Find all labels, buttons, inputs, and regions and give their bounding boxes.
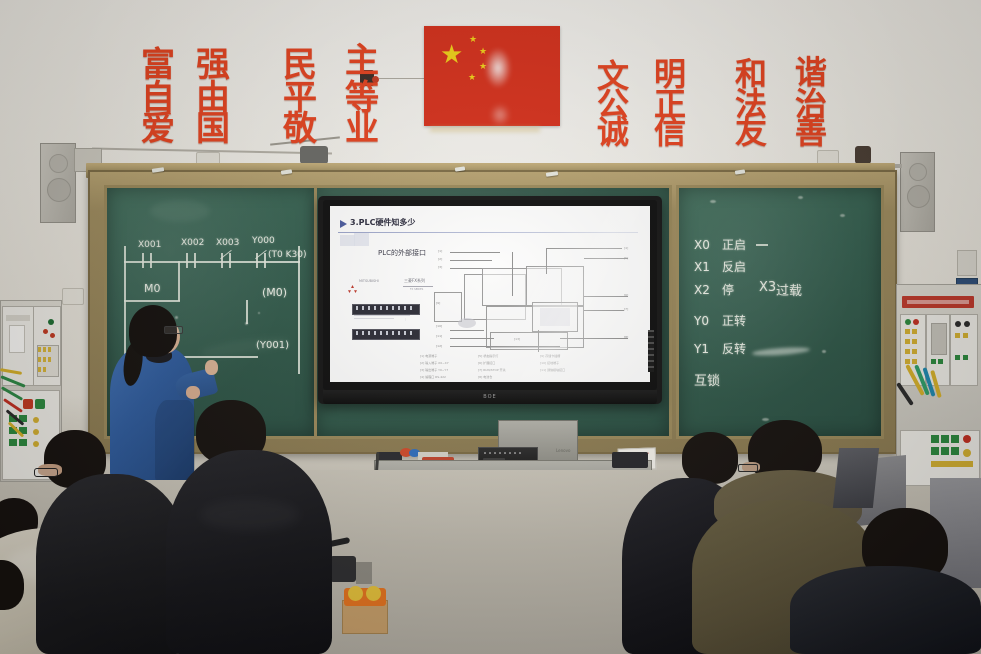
rack-banner: [902, 296, 974, 308]
contact-symbol: [142, 253, 144, 268]
meter-display: [931, 323, 947, 355]
wall-socket: [62, 288, 84, 305]
classroom-scene: 富 强 民 主 自 由 平 等 爱 国 敬 业 文 明 和 谐 公 正 法 治 …: [0, 0, 981, 654]
blackboard-right-panel[interactable]: [676, 185, 884, 439]
wall-char: 敬: [283, 112, 317, 146]
wall-char: 友: [735, 116, 767, 148]
wall-char: 富: [141, 48, 175, 82]
tool-disc: [348, 586, 363, 601]
speaker-driver: [47, 178, 71, 202]
teacher-hand-lower: [186, 386, 200, 399]
teacher-shadow: [155, 400, 195, 480]
board-smudge: [150, 200, 210, 222]
ladder-coil-label: (M0): [262, 286, 287, 299]
ladder-contact-label: X002: [181, 238, 204, 248]
io-output-func: 正转: [722, 312, 746, 329]
smartboard-side-buttons[interactable]: [648, 330, 654, 372]
ladder-contact-label: Y000: [252, 236, 275, 246]
wall-speaker: [40, 143, 76, 223]
ladder-branch-link: [246, 300, 248, 324]
rack-panel[interactable]: [950, 314, 978, 386]
ladder-branch-link: [178, 261, 180, 301]
wall-char: 业: [345, 112, 379, 146]
chalk-dust: [710, 200, 716, 203]
chalk-dust: [175, 316, 178, 319]
flag-glare: [490, 104, 510, 126]
ladder-contact-label: X001: [138, 240, 161, 250]
tool-disc: [366, 586, 381, 601]
wall-wire: [379, 78, 427, 79]
person-jacket: [790, 566, 981, 654]
monitor-brand-label: Lenovo: [556, 448, 570, 453]
flag-star-small: ★: [479, 48, 487, 57]
rack-label: [6, 315, 30, 321]
rack-panel[interactable]: [926, 314, 950, 386]
indicator-lamp-green: [48, 319, 54, 325]
chalk-dust: [840, 214, 845, 217]
chalk-dust: [762, 418, 769, 421]
flag-star-small: ★: [469, 36, 477, 45]
contact-symbol: [194, 253, 196, 268]
contact-symbol: [229, 253, 231, 268]
chair-back: [833, 448, 879, 508]
jacket-highlight: [200, 500, 300, 530]
ladder-right-rail: [298, 246, 300, 374]
flag-star-small: ★: [468, 74, 476, 83]
chalk-dust: [258, 312, 260, 314]
chalk-dust: [245, 322, 248, 325]
smartboard-brand-logo: BOE: [470, 394, 510, 400]
io-input-addr: X0: [694, 238, 710, 252]
wall-char: 谐: [795, 56, 827, 88]
wall-box: [957, 250, 977, 276]
indicator-lamp-red: [43, 329, 48, 334]
io-input-addr: X1: [694, 260, 710, 274]
person-glasses: [34, 468, 58, 477]
screen-glare: [330, 206, 650, 382]
io-input-func: 停: [722, 281, 734, 298]
speaker-driver: [909, 163, 927, 181]
io-output-addr: Y1: [694, 342, 709, 356]
wall-char: 民: [283, 48, 317, 82]
wall-char: 国: [196, 112, 230, 146]
rack-panel[interactable]: [33, 306, 61, 386]
wall-speaker: [900, 152, 935, 232]
desk-device: [612, 452, 648, 468]
flag-tape-shadow: [430, 127, 540, 132]
io-input-func: 正启: [722, 236, 746, 253]
io-input-addr: X3: [759, 280, 776, 295]
floor-equipment: [356, 562, 372, 584]
ladder-branch-label: M0: [144, 282, 161, 295]
person-glasses: [738, 464, 758, 472]
contact-symbol: [150, 253, 152, 268]
wall-char: 爱: [141, 112, 175, 146]
person-jacket: [166, 450, 332, 654]
teacher-glasses: [164, 326, 183, 334]
person-head: [682, 432, 738, 484]
wall-bracket: [855, 146, 871, 164]
io-output-addr: Y0: [694, 314, 709, 328]
speaker-driver: [907, 185, 930, 208]
indicator-lamp-red: [50, 333, 55, 338]
speaker-driver: [49, 154, 68, 173]
wall-char: 信: [654, 116, 686, 148]
io-note: 互锁: [694, 370, 720, 389]
io-input-func: 反启: [722, 258, 746, 275]
wall-char: 强: [196, 48, 230, 82]
io-dash: [756, 244, 768, 246]
io-input-func: 过载: [776, 280, 802, 299]
wall-char: 善: [795, 116, 827, 148]
flag-star-large: ★: [440, 42, 463, 68]
chalk-dust: [822, 350, 826, 353]
push-button-red[interactable]: [23, 399, 33, 409]
io-input-addr: X2: [694, 283, 710, 297]
chalk-dust: [798, 196, 803, 199]
ladder-contact-label: X003: [216, 238, 239, 248]
ladder-coil-label: (T0 K30): [268, 250, 306, 260]
floor-equipment: [330, 556, 356, 582]
ladder-rung-branch: [124, 300, 180, 302]
teacher-hand-raised: [205, 360, 218, 375]
io-output-func: 反转: [722, 340, 746, 357]
push-button-green[interactable]: [35, 399, 45, 409]
contact-symbol: [186, 253, 188, 268]
contact-symbol: [264, 253, 266, 268]
wall-char: 主: [345, 44, 379, 78]
wall-char: 诚: [597, 116, 629, 148]
meter-display: [9, 325, 25, 353]
flag-glare: [485, 48, 511, 88]
